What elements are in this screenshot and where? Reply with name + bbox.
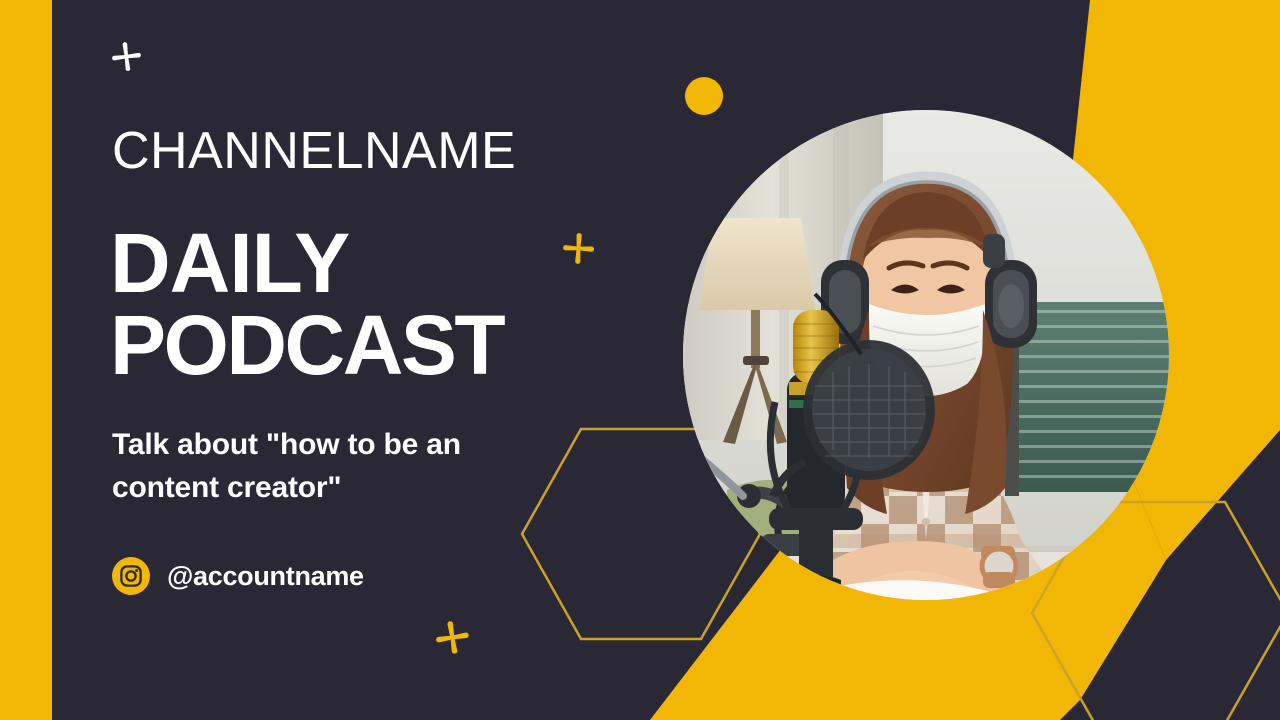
yellow-dot-decoration: [685, 77, 723, 115]
podcast-cover-canvas: CHANNELNAME DAILY PODCAST Talk about "ho…: [0, 0, 1280, 720]
text-content-block: CHANNELNAME DAILY PODCAST Talk about "ho…: [112, 0, 652, 720]
instagram-icon[interactable]: [112, 557, 150, 595]
headline-line-2: PODCAST: [110, 304, 503, 386]
account-handle[interactable]: @accountname: [167, 561, 364, 592]
channel-name: CHANNELNAME: [112, 125, 516, 177]
headline-line-1: DAILY: [110, 222, 503, 304]
host-photo: [683, 110, 1169, 600]
subtitle-text: Talk about "how to be an content creator…: [112, 424, 542, 509]
page-title: DAILY PODCAST: [110, 222, 503, 387]
social-handle-row[interactable]: @accountname: [112, 557, 364, 595]
